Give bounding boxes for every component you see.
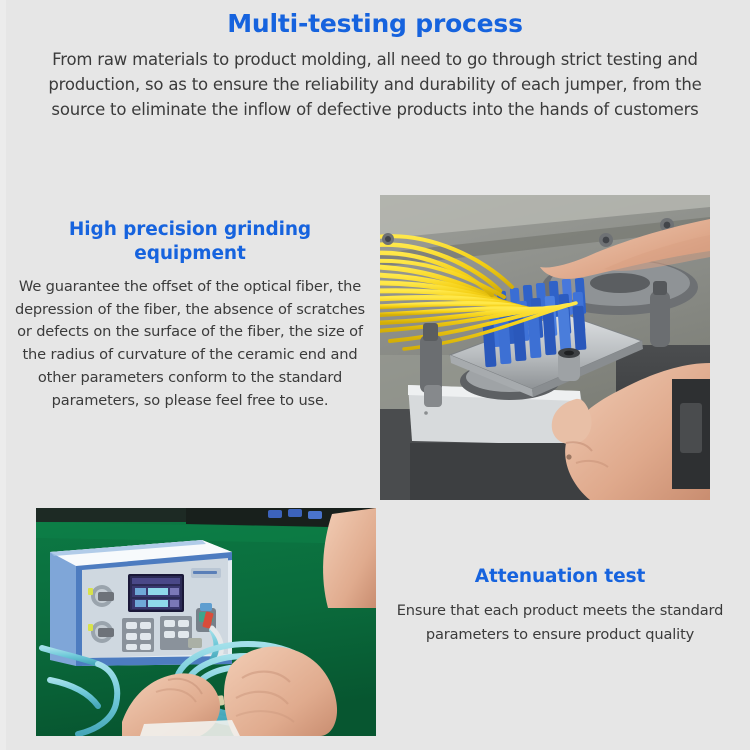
section-grinding-text: High precision grinding equipment We gua… [8, 218, 372, 412]
section-attenuation-body: Ensure that each product meets the stand… [382, 599, 738, 646]
page-root: Multi-testing process From raw materials… [0, 0, 750, 750]
section-grinding-title: High precision grinding equipment [30, 218, 350, 267]
section-attenuation-title: Attenuation test [382, 565, 738, 589]
fiber-grinding-machine-photo [380, 195, 710, 500]
attenuation-photo-illustration [36, 508, 376, 736]
page-title: Multi-testing process [0, 8, 750, 39]
section-grinding-body: We guarantee the offset of the optical f… [8, 276, 372, 413]
intro-paragraph: From raw materials to product molding, a… [23, 47, 727, 122]
attenuation-test-bench-photo [36, 508, 376, 736]
section-attenuation-text: Attenuation test Ensure that each produc… [382, 565, 738, 646]
page-header: Multi-testing process From raw materials… [0, 8, 750, 122]
grinding-photo-illustration [380, 195, 710, 500]
